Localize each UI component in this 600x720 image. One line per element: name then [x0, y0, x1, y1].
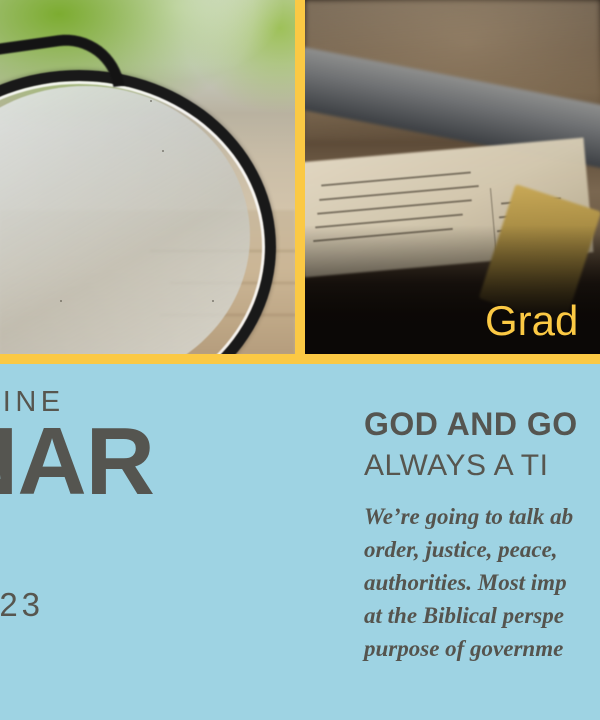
photo-caption-text: Grad — [485, 297, 578, 345]
lens-rim — [0, 70, 276, 355]
event-details-column: ARANTINE BINAR APRIL 23 EDT — [0, 364, 295, 720]
topic-column: GOD AND GO ALWAYS A TI We’re going to ta… — [305, 364, 600, 720]
photo-right: Grad — [305, 0, 600, 355]
open-bible-book-image: Grad — [305, 0, 600, 355]
text-band: ARANTINE BINAR APRIL 23 EDT GOD AND GO A… — [0, 364, 600, 720]
event-date: APRIL 23 — [0, 586, 44, 624]
dust-speck — [150, 100, 152, 102]
topic-description-line: at the Biblical perspe — [364, 599, 600, 632]
topic-title: GOD AND GO — [364, 406, 578, 443]
event-headline: BINAR — [0, 416, 154, 507]
topic-description-line: We’re going to talk ab — [364, 500, 600, 533]
topic-subtitle: ALWAYS A TI — [364, 449, 548, 483]
topic-description-line: authorities. Most imp — [364, 566, 600, 599]
webinar-promo-poster: Grad ARANTINE BINAR APRIL 23 EDT GOD AND… — [0, 0, 600, 720]
topic-description: We’re going to talk ab order, justice, p… — [364, 500, 600, 665]
topic-description-line: purpose of governme — [364, 632, 600, 665]
dust-speck — [212, 300, 214, 302]
divider-vertical — [295, 0, 305, 364]
dust-speck — [60, 300, 62, 302]
photo-left — [0, 0, 295, 355]
divider-horizontal — [0, 354, 600, 364]
dust-speck — [162, 150, 164, 152]
topic-description-line: order, justice, peace, — [364, 533, 600, 566]
eyeglasses-on-wooden-table-image — [0, 0, 295, 355]
